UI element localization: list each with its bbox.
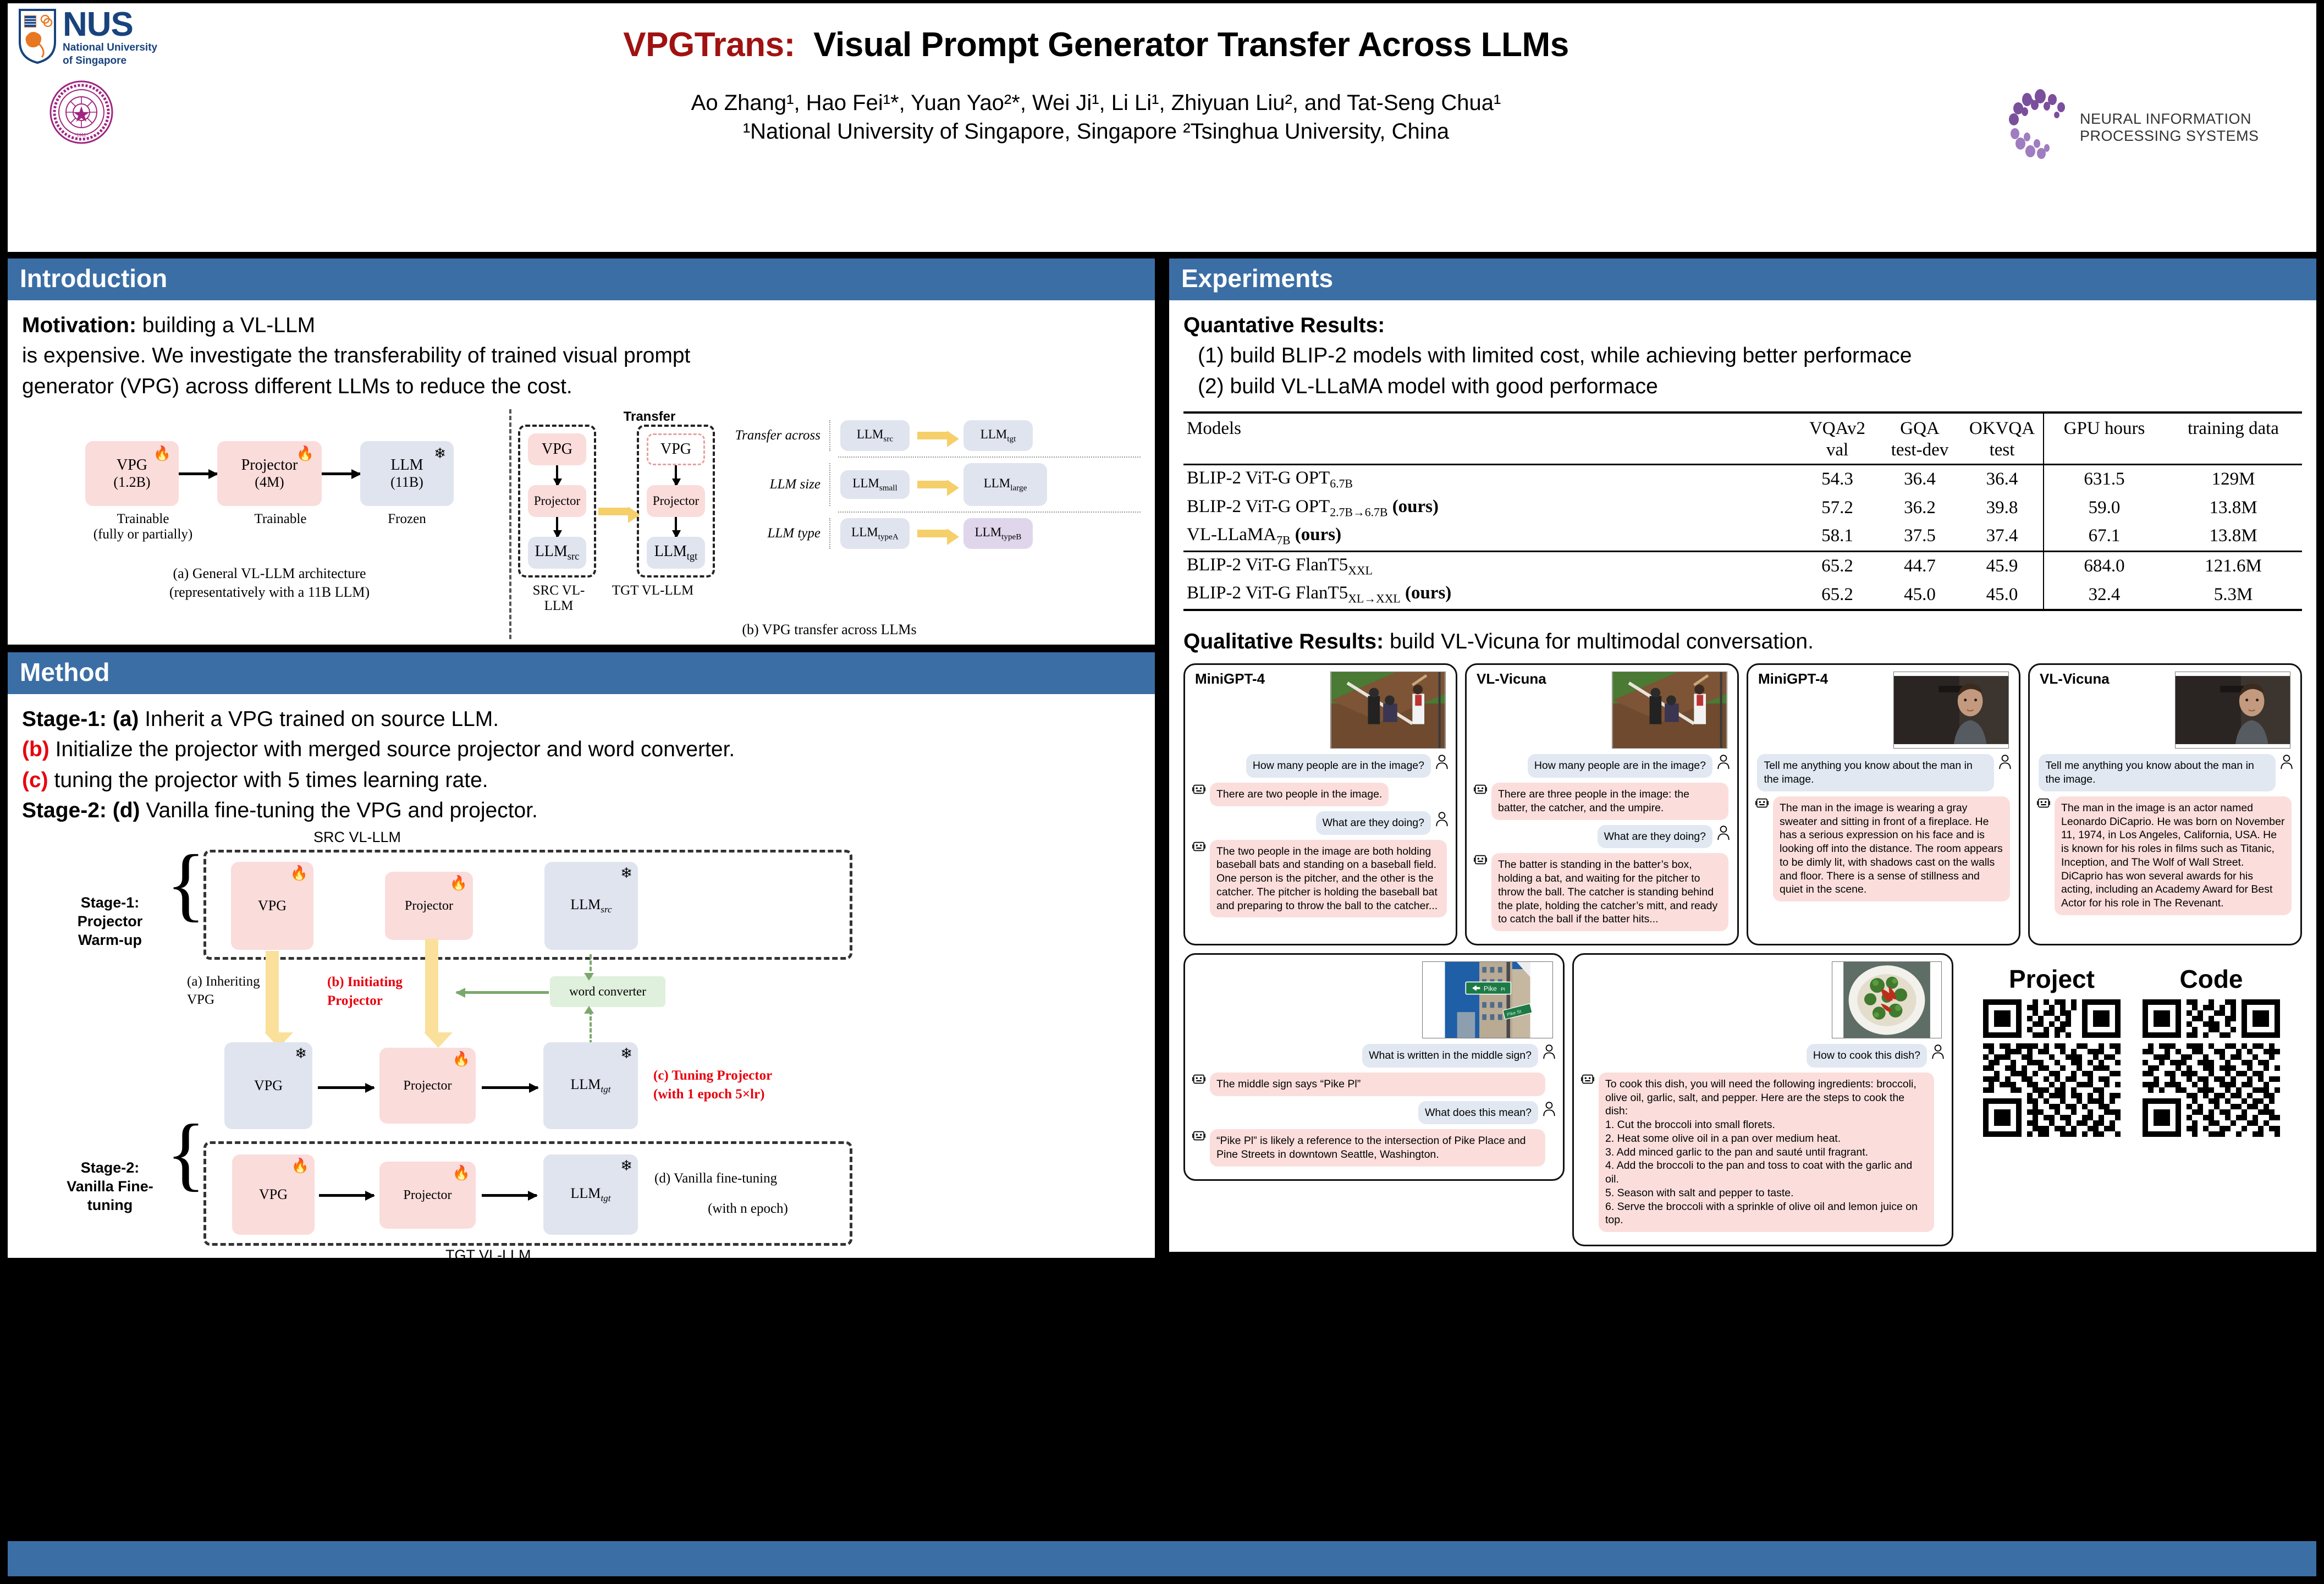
- user-avatar-icon: [2279, 754, 2294, 769]
- cell-gpu: 59.0: [2044, 494, 2165, 522]
- neurips-mark-icon: [2008, 86, 2074, 169]
- cell-vqav2: 58.1: [1796, 522, 1879, 551]
- node-vpg-name: VPG: [117, 457, 147, 474]
- cell-gqa: 45.0: [1879, 580, 1961, 610]
- user-avatar-icon: [1931, 1044, 1945, 1059]
- table-divider-2: [838, 512, 1141, 513]
- col-training-data: training data: [2165, 413, 2302, 464]
- method-line-2: (b) Initialize the projector with merged…: [22, 734, 1141, 765]
- left-logos: NUS National University of Singapore: [8, 3, 184, 252]
- bubble-text: The man in the image is an actor named L…: [2055, 796, 2292, 915]
- qualitative-results-text: Qualitative Results: build VL-Vicuna for…: [1183, 626, 2302, 657]
- chat-message-user: How to cook this dish?: [1580, 1044, 1945, 1068]
- bottom-accent-bar: [8, 1541, 2316, 1576]
- method-line-3: (c) tuning the projector with 5 times le…: [22, 765, 1141, 795]
- tgt-vpg-label: VPG: [660, 441, 691, 458]
- src-projector-label: Projector: [534, 494, 580, 508]
- cell-data: 13.8M: [2165, 494, 2302, 522]
- baseball-photo: [1330, 672, 1446, 749]
- transfer-label: Transfer: [584, 409, 715, 425]
- src-row-vpg: 🔥 VPG: [231, 862, 313, 950]
- chat-message-user: What does this mean?: [1192, 1101, 1556, 1125]
- transfer-arrow: [598, 508, 629, 515]
- cell-model: BLIP-2 ViT-G OPT2.7B→6.7B (ours): [1183, 494, 1796, 522]
- fire-icon: 🔥: [153, 446, 171, 462]
- figure-a-vl-llm-architecture: 🔥 VPG (1.2B) 🔥 Projector (4M): [22, 409, 506, 602]
- cell-vqav2: 57.2: [1796, 494, 1879, 522]
- figure-a-state-labels: Trainable (fully or partially) Trainable…: [33, 512, 506, 542]
- pike-place-street-sign-photo: Pike Pl Pike St: [1422, 961, 1553, 1038]
- src-row-projector: 🔥 Projector: [385, 872, 473, 940]
- bubble-text: To cook this dish, you will need the fol…: [1599, 1072, 1934, 1232]
- transfer-row-type: LLM type LLMtypeA LLMtypeB: [725, 514, 1141, 553]
- cell-okvqa: 45.0: [1961, 580, 2044, 610]
- table-row: BLIP-2 ViT-G FlanT5XXL 65.2 44.7 45.9 68…: [1183, 551, 2302, 580]
- nus-shield-icon: [18, 8, 57, 65]
- right-column: Experiments Quantative Results: (1) buil…: [1169, 258, 2316, 1533]
- row-arrow: [917, 432, 948, 439]
- chat-message-user: What are they doing?: [1473, 825, 1731, 849]
- svg-text:~1911~: ~1911~: [74, 133, 89, 137]
- node-vpg-size: (1.2B): [113, 474, 150, 491]
- row-sep: [829, 420, 830, 451]
- tgt-arrow-vpg-projector: [318, 1086, 374, 1089]
- snowflake-icon: ❄: [620, 1158, 632, 1174]
- cell-gqa: 37.5: [1879, 522, 1961, 551]
- robot-avatar-icon: [2036, 796, 2051, 812]
- stage2-vpg: 🔥 VPG: [232, 1154, 315, 1235]
- stage2-llm: ❄ LLMtgt: [543, 1154, 638, 1235]
- experiments-panel: Experiments Quantative Results: (1) buil…: [1169, 258, 2316, 1252]
- row-arrow: [917, 481, 948, 488]
- src-vl-llm-label: SRC VL-LLM: [520, 583, 597, 614]
- row-arrow: [917, 530, 948, 537]
- chat-card-title: VL-Vicuna: [2040, 670, 2110, 687]
- cell-okvqa: 45.9: [1961, 551, 2044, 580]
- col-gpu-hours: GPU hours: [2044, 413, 2165, 464]
- quant-point-1: (1) build BLIP-2 models with limited cos…: [1183, 340, 2302, 371]
- state-vpg-line1: Trainable: [77, 512, 209, 527]
- code-label: Code: [2143, 964, 2280, 994]
- src-vl-llm-box: VPG Projector: [518, 425, 596, 577]
- robot-avatar-icon: [1192, 1129, 1206, 1145]
- node-llm-size: (11B): [390, 474, 423, 491]
- nus-sub-line2: of Singapore: [63, 55, 157, 67]
- user-avatar-icon: [1998, 754, 2012, 769]
- tsinghua-seal-icon: ~1911~: [48, 79, 184, 148]
- state-vpg: Trainable (fully or partially): [77, 512, 209, 542]
- llm-typea-chip: LLMtypeA: [840, 518, 910, 549]
- stage2-projector: 🔥 Projector: [379, 1162, 476, 1229]
- node-projector: 🔥 Projector (4M): [217, 441, 322, 506]
- bubble-text: There are two people in the image.: [1210, 783, 1389, 806]
- col-gqa: GQAtest-dev: [1879, 413, 1961, 464]
- src-arrow-1: [556, 465, 558, 485]
- tgt-arrow-1: [675, 465, 677, 485]
- results-table: Models VQAv2val GQAtest-dev OKVQAtest GP…: [1183, 411, 2302, 611]
- cell-vqav2: 65.2: [1796, 580, 1879, 610]
- user-avatar-icon: [1435, 811, 1449, 827]
- cell-gqa: 36.4: [1879, 465, 1961, 494]
- tgt-row-llm: ❄ LLMtgt: [543, 1042, 638, 1129]
- bubble-text: The middle sign says “Pike Pl”: [1210, 1072, 1545, 1096]
- chat-card-title: MiniGPT-4: [1195, 670, 1265, 687]
- cell-gqa: 36.2: [1879, 494, 1961, 522]
- bubble-text: There are three people in the image: the…: [1491, 783, 1728, 820]
- robot-avatar-icon: [1192, 783, 1206, 798]
- nus-name: NUS: [63, 9, 157, 40]
- cell-gpu: 32.4: [2044, 580, 2165, 610]
- qr-images: [1961, 999, 2302, 1137]
- method-line-4: Stage-2: (d) Vanilla fine-tuning the VPG…: [22, 795, 1141, 826]
- robot-avatar-icon: [1473, 783, 1488, 798]
- row-label-llm-type: LLM type: [725, 526, 829, 541]
- llm-tgt-chip: LLMtgt: [963, 420, 1033, 451]
- transfer-dimension-table: Transfer across LLMsrc LLMtgt: [715, 409, 1141, 553]
- introduction-figures: 🔥 VPG (1.2B) 🔥 Projector (4M): [22, 409, 1141, 639]
- motivation-line1: building a VL-LLM: [136, 313, 315, 337]
- neurips-text: NEURAL INFORMATION PROCESSING SYSTEMS: [2080, 111, 2259, 145]
- col-vqav2: VQAv2val: [1796, 413, 1879, 464]
- stage2-arrow-2: [482, 1194, 537, 1197]
- neurips-logo: NEURAL INFORMATION PROCESSING SYSTEMS: [2008, 3, 2316, 252]
- tgt-vpg: VPG: [647, 433, 705, 465]
- src-projector: Projector: [528, 485, 586, 517]
- figures-divider: [509, 409, 511, 639]
- user-avatar-icon: [1716, 754, 1731, 769]
- fire-icon: 🔥: [453, 1051, 470, 1068]
- nus-sub-line1: National University: [63, 42, 157, 53]
- llm-large-chip: LLMlarge: [963, 463, 1047, 506]
- poster-header: NUS National University of Singapore: [8, 3, 2316, 252]
- chat-message-assistant: The man in the image is wearing a gray s…: [1755, 796, 2012, 901]
- converter-arrowhead-up: [584, 1006, 594, 1014]
- chat-message-user: Tell me anything you know about the man …: [1755, 754, 2012, 791]
- cell-model: VL-LLaMA7B (ours): [1183, 522, 1796, 551]
- bubble-text: What are they doing?: [1598, 825, 1712, 849]
- motivation-label: Motivation:: [22, 313, 136, 337]
- state-projector: Trainable: [209, 512, 352, 542]
- fire-icon: 🔥: [290, 865, 308, 882]
- tgt-vl-llm-label: TGT VL-LLM: [612, 583, 694, 614]
- fire-icon: 🔥: [450, 875, 467, 892]
- note-a: (a) Inheriting VPG: [187, 973, 280, 1009]
- stage-1-brace: {: [166, 851, 206, 917]
- snowflake-icon: ❄: [620, 865, 632, 882]
- node-projector-name: Projector: [241, 457, 298, 474]
- figure-a-caption-line2: (representatively with a 11B LLM): [33, 583, 506, 602]
- row-label-transfer-across: Transfer across: [725, 428, 829, 443]
- man-portrait-photo: [2175, 672, 2290, 749]
- tgt-llm: LLMtgt: [647, 537, 705, 569]
- project-qr-code[interactable]: [1983, 999, 2121, 1137]
- project-label: Project: [1983, 964, 2121, 994]
- bubble-text: The batter is standing in the batter’s b…: [1491, 853, 1728, 931]
- chat-message-assistant: The middle sign says “Pike Pl”: [1192, 1072, 1556, 1096]
- table-row: VL-LLaMA7B (ours) 58.1 37.5 37.4 67.1 13…: [1183, 522, 2302, 551]
- poster-root: NUS National University of Singapore: [0, 0, 2324, 1584]
- code-qr-code[interactable]: [2143, 999, 2280, 1137]
- bubble-text: How many people are in the image?: [1246, 754, 1431, 778]
- cell-model: BLIP-2 ViT-G FlanT5XL→XXL (ours): [1183, 580, 1796, 610]
- chat-message-assistant: The man in the image is an actor named L…: [2036, 796, 2294, 915]
- bubble-text: How to cook this dish?: [1807, 1044, 1927, 1068]
- bubble-text: Tell me anything you know about the man …: [1757, 754, 1994, 791]
- header-center: VPGTrans: Visual Prompt Generator Transf…: [184, 3, 2008, 252]
- title-rest: Visual Prompt Generator Transfer Across …: [813, 26, 1568, 64]
- motivation-line3: generator (VPG) across different LLMs to…: [22, 375, 572, 398]
- snowflake-icon: ❄: [295, 1046, 307, 1062]
- cell-model: BLIP-2 ViT-G FlanT5XXL: [1183, 551, 1796, 580]
- snowflake-icon: ❄: [620, 1046, 632, 1062]
- bubble-text: How many people are in the image?: [1528, 754, 1712, 778]
- bubble-text: “Pike Pl” is likely a reference to the i…: [1210, 1129, 1545, 1167]
- figure-a-chain: 🔥 VPG (1.2B) 🔥 Projector (4M): [33, 441, 506, 506]
- method-heading: Method: [8, 652, 1155, 694]
- note-d: (d) Vanilla fine-tuning (with n epoch): [654, 1170, 819, 1218]
- cell-vqav2: 54.3: [1796, 465, 1879, 494]
- baseball-photo: [1612, 672, 1727, 749]
- note-b: (b) Initiating Projector: [327, 973, 432, 1010]
- chat-card-vlvicuna-portrait: VL-Vicuna Tell me anything: [2028, 663, 2302, 945]
- chat-card-street-sign: Pike Pl Pike St What is written in the m…: [1183, 953, 1565, 1181]
- neurips-line2: PROCESSING SYSTEMS: [2080, 128, 2259, 145]
- figure-a-caption: (a) General VL-LLM architecture (represe…: [33, 564, 506, 602]
- cell-gpu: 631.5: [2044, 465, 2165, 494]
- method-panel: Method Stage-1: (a) Inherit a VPG traine…: [8, 652, 1155, 1258]
- col-okvqa: OKVQAtest: [1961, 413, 2044, 464]
- chat-card-minigpt4-portrait: MiniGPT-4 Tell me anything: [1747, 663, 2020, 945]
- cell-gqa: 44.7: [1879, 551, 1961, 580]
- arrow-vpg-to-projector: [179, 472, 217, 475]
- arrow-projector-to-llm: [322, 472, 360, 475]
- chat-message-user: What are they doing?: [1192, 811, 1449, 835]
- introduction-panel: Introduction Motivation: building a VL-L…: [8, 258, 1155, 645]
- llm-small-chip: LLMsmall: [840, 470, 910, 499]
- bubble-text: What does this mean?: [1418, 1101, 1538, 1125]
- chat-message-assistant: The batter is standing in the batter’s b…: [1473, 853, 1731, 931]
- tgt-arrow-projector-llm: [482, 1086, 538, 1089]
- state-llm: Frozen: [352, 512, 462, 542]
- table-header-row: Models VQAv2val GQAtest-dev OKVQAtest GP…: [1183, 413, 2302, 464]
- converter-arrowhead-down: [584, 973, 594, 981]
- user-avatar-icon: [1542, 1101, 1556, 1116]
- nus-wordmark: NUS National University of Singapore: [63, 8, 157, 67]
- cell-gpu: 684.0: [2044, 551, 2165, 580]
- qual-label: Qualitative Results:: [1183, 630, 1384, 653]
- left-column: Introduction Motivation: building a VL-L…: [8, 258, 1155, 1533]
- tgt-row-vpg: ❄ VPG: [224, 1042, 312, 1129]
- quantitative-results-text: Quantative Results: (1) build BLIP-2 mod…: [1183, 310, 2302, 402]
- poster-title: VPGTrans: Visual Prompt Generator Transf…: [184, 25, 2008, 64]
- stage-1-label: Stage-1: Projector Warm-up: [55, 894, 165, 949]
- chat-message-user: What is written in the middle sign?: [1192, 1044, 1556, 1068]
- figure-a-caption-line1: (a) General VL-LLM architecture: [33, 564, 506, 583]
- chat-message-assistant: There are three people in the image: the…: [1473, 783, 1731, 820]
- src-arrow-2: [556, 517, 558, 537]
- note-c: (c) Tuning Projector (with 1 epoch 5×lr): [653, 1066, 813, 1104]
- fire-icon: 🔥: [291, 1158, 309, 1174]
- tgt-projector: Projector: [647, 485, 705, 517]
- cell-okvqa: 36.4: [1961, 465, 2044, 494]
- user-avatar-icon: [1435, 754, 1449, 769]
- chat-message-assistant: There are two people in the image.: [1192, 783, 1449, 806]
- man-portrait-photo: [1893, 672, 2009, 749]
- broccoli-dish-photo: [1832, 961, 1942, 1038]
- src-vpg-label: VPG: [542, 441, 572, 458]
- quant-label: Quantative Results:: [1183, 313, 1385, 337]
- fire-icon: 🔥: [296, 446, 314, 462]
- experiments-heading: Experiments: [1169, 258, 2316, 300]
- title-brand: VPGTrans:: [623, 26, 795, 64]
- chat-message-assistant: The two people in the image are both hol…: [1192, 840, 1449, 918]
- robot-avatar-icon: [1192, 840, 1206, 855]
- snowflake-icon: ❄: [434, 446, 446, 462]
- cell-vqav2: 65.2: [1796, 551, 1879, 580]
- cell-data: 129M: [2165, 465, 2302, 494]
- svg-text:Pike: Pike: [1484, 985, 1497, 993]
- motivation-text: Motivation: building a VL-LLM is expensi…: [22, 310, 1141, 402]
- table-row: BLIP-2 ViT-G OPT2.7B→6.7B (ours) 57.2 36…: [1183, 494, 2302, 522]
- robot-avatar-icon: [1473, 853, 1488, 868]
- affiliation-list: ¹National University of Singapore, Singa…: [184, 117, 2008, 146]
- table-row: BLIP-2 ViT-G OPT6.7B 54.3 36.4 36.4 631.…: [1183, 465, 2302, 494]
- chat-message-assistant: “Pike Pl” is likely a reference to the i…: [1192, 1129, 1556, 1167]
- chat-card-broccoli-recipe: How to cook this dish? To cook this dish…: [1572, 953, 1953, 1246]
- user-avatar-icon: [1716, 825, 1731, 840]
- qr-labels: Project Code: [1961, 964, 2302, 999]
- table-row: BLIP-2 ViT-G FlanT5XL→XXL (ours) 65.2 45…: [1183, 580, 2302, 610]
- transfer-row-across: Transfer across LLMsrc LLMtgt: [725, 416, 1141, 455]
- introduction-heading: Introduction: [8, 258, 1155, 300]
- cell-gpu: 67.1: [2044, 522, 2165, 551]
- neurips-line1: NEURAL INFORMATION: [2080, 111, 2259, 128]
- stage-2-label: Stage-2: Vanilla Fine-tuning: [55, 1159, 165, 1214]
- transfer-row-size: LLM size LLMsmall LLMlarge: [725, 459, 1141, 510]
- method-diagram: SRC VL-LLM Stage-1: Projector Warm-up { …: [22, 829, 1141, 1252]
- qr-codes-area: Project Code: [1961, 953, 2302, 1137]
- quant-point-2: (2) build VL-LLaMA model with good perfo…: [1183, 371, 2302, 402]
- svg-text:Pl: Pl: [1501, 987, 1505, 992]
- row-label-llm-size: LLM size: [725, 477, 829, 492]
- llm-src-chip: LLMsrc: [840, 420, 910, 451]
- method-steps: Stage-1: (a) Inherit a VPG trained on so…: [22, 704, 1141, 826]
- node-llm-name: LLM: [390, 457, 423, 474]
- chat-examples-row-1: MiniGPT-4 Ho: [1183, 663, 2302, 945]
- chat-card-title: MiniGPT-4: [1758, 670, 1828, 687]
- node-vpg: 🔥 VPG (1.2B): [85, 441, 179, 506]
- figure-b-vpg-transfer: Transfer VPG: [515, 409, 1141, 639]
- src-llm: LLMsrc: [528, 537, 586, 569]
- bubble-text: The man in the image is wearing a gray s…: [1773, 796, 2010, 901]
- bubble-text: What are they doing?: [1316, 811, 1431, 835]
- cell-okvqa: 37.4: [1961, 522, 2044, 551]
- tgt-vl-llm-box: VPG Projector: [637, 425, 715, 577]
- nus-logo: NUS National University of Singapore: [18, 8, 184, 67]
- node-llm: ❄ LLM (11B): [360, 441, 454, 506]
- converter-to-projector-arrow: [456, 991, 549, 994]
- chat-examples-row-2: Pike Pl Pike St What is written in the m…: [1183, 953, 2302, 1246]
- stage2-arrow-1: [319, 1194, 374, 1197]
- robot-avatar-icon: [1192, 1072, 1206, 1088]
- chat-card-minigpt4-baseball: MiniGPT-4 Ho: [1183, 663, 1457, 945]
- tgt-arrow-2: [675, 517, 677, 537]
- tgt-row-projector: 🔥 Projector: [379, 1048, 476, 1124]
- cell-data: 13.8M: [2165, 522, 2302, 551]
- tgt-llm-label: LLMtgt: [654, 543, 698, 563]
- method-src-label: SRC VL-LLM: [313, 829, 401, 846]
- method-tgt-label: TGT VL-LLM: [445, 1247, 531, 1264]
- motivation-line2: is expensive. We investigate the transfe…: [22, 344, 690, 367]
- table-divider-1: [838, 457, 1141, 458]
- chat-card-title: VL-Vicuna: [1477, 670, 1546, 687]
- llm-typeb-chip: LLMtypeB: [963, 518, 1033, 549]
- col-models: Models: [1183, 413, 1796, 464]
- row-sep: [829, 518, 830, 549]
- cell-model: BLIP-2 ViT-G OPT6.7B: [1183, 465, 1796, 494]
- src-row-llm: ❄ LLMsrc: [544, 862, 638, 950]
- cell-data: 121.6M: [2165, 551, 2302, 580]
- chat-message-user: Tell me anything you know about the man …: [2036, 754, 2294, 791]
- stage-2-brace: {: [166, 1120, 206, 1186]
- qual-text: build VL-Vicuna for multimodal conversat…: [1384, 630, 1814, 653]
- bubble-text: Tell me anything you know about the man …: [2039, 754, 2276, 791]
- state-vpg-line2: (fully or partially): [77, 527, 209, 542]
- tgt-projector-label: Projector: [653, 494, 699, 508]
- word-converter-node: word converter: [550, 976, 665, 1007]
- chat-message-user: How many people are in the image?: [1192, 754, 1449, 778]
- figure-b-caption: (b) VPG transfer across LLMs: [518, 620, 1141, 639]
- robot-avatar-icon: [1755, 796, 1769, 812]
- robot-avatar-icon: [1580, 1072, 1595, 1088]
- row-sep: [829, 463, 830, 506]
- llm-tgt-to-converter-line: [590, 1010, 592, 1044]
- user-avatar-icon: [1542, 1044, 1556, 1059]
- chat-message-user: How many people are in the image?: [1473, 754, 1731, 778]
- chat-card-vlvicuna-baseball: VL-Vicuna Ho: [1465, 663, 1739, 945]
- cell-data: 5.3M: [2165, 580, 2302, 610]
- author-list: Ao Zhang¹, Hao Fei¹*, Yuan Yao²*, Wei Ji…: [184, 89, 2008, 117]
- src-llm-label: LLMsrc: [535, 543, 580, 563]
- method-line-1: Stage-1: (a) Inherit a VPG trained on so…: [22, 704, 1141, 734]
- src-vpg: VPG: [528, 433, 586, 465]
- bubble-text: What is written in the middle sign?: [1362, 1044, 1538, 1068]
- cell-okvqa: 39.8: [1961, 494, 2044, 522]
- fire-icon: 🔥: [453, 1165, 470, 1181]
- node-projector-size: (4M): [255, 474, 284, 491]
- chat-message-assistant: To cook this dish, you will need the fol…: [1580, 1072, 1945, 1232]
- bubble-text: The two people in the image are both hol…: [1210, 840, 1447, 918]
